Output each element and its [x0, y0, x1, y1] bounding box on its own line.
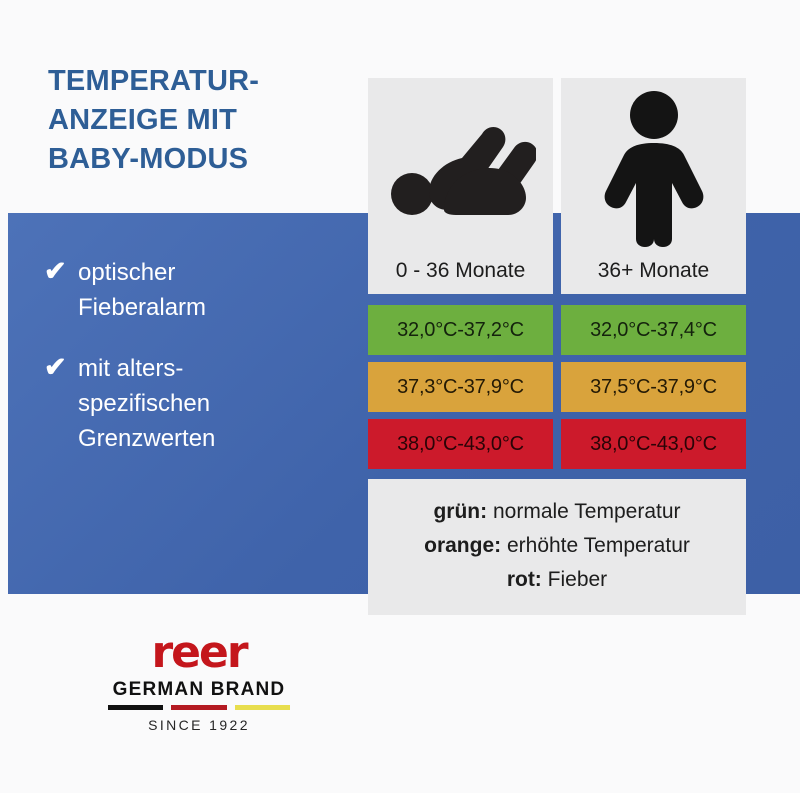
age-column-label: 0 - 36 Monate	[396, 259, 526, 294]
legend-description: normale Temperatur	[487, 500, 680, 523]
age-header-row: 0 - 36 Monate 36+ Monate	[368, 78, 746, 294]
legend-description: erhöhte Temperatur	[501, 534, 690, 557]
temperature-band-rows: 32,0°C-37,2°C 32,0°C-37,4°C 37,3°C-37,9°…	[368, 305, 746, 469]
flag-bar-red	[171, 705, 226, 710]
flag-bar-gap	[163, 705, 171, 710]
legend-line-green: grün: normale Temperatur	[368, 495, 746, 529]
check-icon: ✔	[44, 352, 78, 382]
infographic-root: TEMPERATUR- ANZEIGE MIT BABY-MODUS ✔ opt…	[0, 0, 800, 793]
page-title: TEMPERATUR- ANZEIGE MIT BABY-MODUS	[48, 62, 368, 179]
temperature-row-green: 32,0°C-37,2°C 32,0°C-37,4°C	[368, 305, 746, 355]
temperature-cell: 37,3°C-37,9°C	[368, 362, 553, 412]
temperature-cell: 32,0°C-37,4°C	[561, 305, 746, 355]
check-icon: ✔	[44, 256, 78, 286]
legend-line-orange: orange: erhöhte Temperatur	[368, 529, 746, 563]
temperature-cell: 32,0°C-37,2°C	[368, 305, 553, 355]
german-flag-bars	[108, 705, 290, 710]
logo-since-line: SINCE 1922	[104, 717, 294, 733]
baby-lying-icon	[368, 78, 553, 259]
feature-item-label: mit alters- spezifischen Grenzwerten	[78, 351, 215, 456]
feature-item-label: optischer Fieberalarm	[78, 255, 206, 325]
page-title-line-2: ANZEIGE MIT	[48, 101, 368, 140]
flag-bar-gold	[235, 705, 290, 710]
brand-logo: reer GERMAN BRAND SINCE 1922	[104, 630, 294, 733]
legend-description: Fieber	[542, 568, 607, 591]
age-column-baby: 0 - 36 Monate	[368, 78, 553, 294]
feature-item: ✔ mit alters- spezifischen Grenzwerten	[44, 351, 344, 456]
logo-wordmark: reer	[104, 630, 294, 676]
temperature-cell: 37,5°C-37,9°C	[561, 362, 746, 412]
temperature-cell: 38,0°C-43,0°C	[561, 419, 746, 469]
legend-term: grün:	[433, 500, 487, 523]
logo-brand-line: GERMAN BRAND	[104, 678, 294, 702]
feature-item: ✔ optischer Fieberalarm	[44, 255, 344, 325]
temperature-row-red: 38,0°C-43,0°C 38,0°C-43,0°C	[368, 419, 746, 469]
page-title-line-1: TEMPERATUR-	[48, 62, 368, 101]
page-title-line-3: BABY-MODUS	[48, 140, 368, 179]
temperature-table: 0 - 36 Monate 36+ Monate 32,0°C-37,2°C 3…	[368, 78, 746, 615]
standing-person-icon	[561, 78, 746, 259]
flag-bar-gap	[227, 705, 235, 710]
age-column-adult: 36+ Monate	[561, 78, 746, 294]
legend-term: orange:	[424, 534, 501, 557]
legend-line-red: rot: Fieber	[368, 563, 746, 597]
feature-list: ✔ optischer Fieberalarm ✔ mit alters- sp…	[44, 255, 344, 482]
legend-term: rot:	[507, 568, 542, 591]
temperature-cell: 38,0°C-43,0°C	[368, 419, 553, 469]
age-column-label: 36+ Monate	[598, 259, 710, 294]
temperature-row-orange: 37,3°C-37,9°C 37,5°C-37,9°C	[368, 362, 746, 412]
flag-bar-black	[108, 705, 163, 710]
color-legend: grün: normale Temperatur orange: erhöhte…	[368, 479, 746, 615]
